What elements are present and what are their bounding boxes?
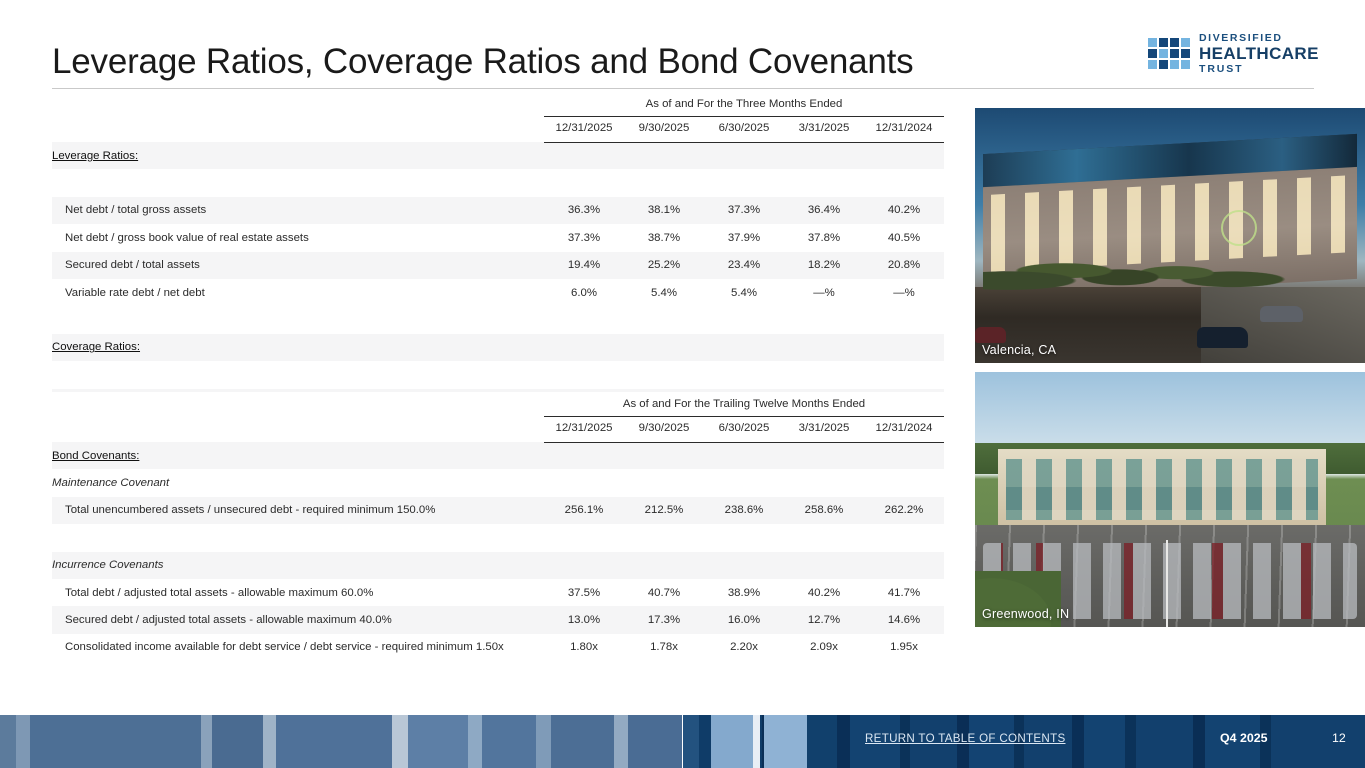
- spacer-cell: [52, 524, 944, 551]
- column-header-spacer: [52, 116, 544, 142]
- group-header-spacer: [52, 92, 544, 116]
- footer-band: [683, 715, 699, 768]
- logo-tile-2: [1170, 38, 1179, 47]
- column-header: 6/30/2025: [704, 416, 784, 442]
- table-cell: 40.5%: [864, 224, 944, 251]
- photo-light-pole: [1166, 540, 1168, 627]
- table-row: Net debt / gross book value of real esta…: [52, 224, 944, 251]
- table-cell: 18.2%: [784, 252, 864, 279]
- footer-band: [201, 715, 212, 768]
- row-label: Total debt / adjusted total assets - all…: [52, 579, 544, 606]
- logo-line-3: TRUST: [1199, 64, 1319, 75]
- table-cell: 38.9%: [704, 579, 784, 606]
- logo-line-1: DIVERSIFIED: [1199, 33, 1319, 44]
- table-column-header-row: 12/31/20259/30/20256/30/20253/31/202512/…: [52, 416, 944, 442]
- table-cell: 36.4%: [784, 197, 864, 224]
- column-header: 12/31/2024: [864, 116, 944, 142]
- table-row: Secured debt / adjusted total assets - a…: [52, 606, 944, 633]
- leverage-coverage-table: As of and For the Three Months Ended 12/…: [52, 92, 944, 443]
- photo-car: [1260, 306, 1303, 323]
- column-header: 12/31/2025: [544, 416, 624, 442]
- bond-covenants-table: As of and For the Trailing Twelve Months…: [52, 392, 944, 661]
- footer-band: [276, 715, 392, 768]
- table-spacer-row: [52, 524, 944, 551]
- table-cell: 16.0%: [704, 606, 784, 633]
- footer-band: [614, 715, 628, 768]
- column-header: 9/30/2025: [624, 116, 704, 142]
- table-cell: 36.3%: [544, 197, 624, 224]
- return-to-toc-link[interactable]: RETURN TO TABLE OF CONTENTS: [865, 732, 1066, 745]
- slide-footer: RETURN TO TABLE OF CONTENTS Q4 2025 12: [0, 715, 1365, 768]
- table-cell: 238.6%: [704, 497, 784, 524]
- logo-line-2: HEALTHCARE: [1199, 45, 1319, 62]
- section-heading: Leverage Ratios:: [52, 142, 944, 169]
- table-cell: 41.7%: [864, 579, 944, 606]
- spacer-cell: [52, 306, 944, 333]
- table-cell: 1.95x: [864, 634, 944, 661]
- footer-band: [1193, 715, 1205, 768]
- row-label: Secured debt / adjusted total assets - a…: [52, 606, 544, 633]
- footer-band: [263, 715, 275, 768]
- title-divider: [52, 88, 1314, 89]
- table-cell: 6.0%: [544, 279, 624, 306]
- column-header: 12/31/2024: [864, 416, 944, 442]
- footer-band: [1072, 715, 1084, 768]
- photo-caption: Valencia, CA: [982, 343, 1056, 357]
- row-label: Net debt / total gross assets: [52, 197, 544, 224]
- footer-quarter-label: Q4 2025: [1220, 731, 1268, 745]
- table-cell: 38.7%: [624, 224, 704, 251]
- table-row: Total unencumbered assets / unsecured de…: [52, 497, 944, 524]
- footer-band-mullion: [753, 715, 759, 768]
- logo-tile-0: [1148, 38, 1157, 47]
- photo-trees: [983, 241, 1295, 307]
- table-row: Variable rate debt / net debt6.0%5.4%5.4…: [52, 279, 944, 306]
- row-label: Consolidated income available for debt s…: [52, 634, 544, 661]
- logo-tile-9: [1159, 60, 1168, 69]
- table-cell: 40.2%: [784, 579, 864, 606]
- footer-band: [1125, 715, 1136, 768]
- table-row: Secured debt / total assets19.4%25.2%23.…: [52, 252, 944, 279]
- footer-band: [16, 715, 30, 768]
- photo-caption: Greenwood, IN: [982, 607, 1069, 621]
- spacer-cell: [52, 361, 944, 388]
- table-cell: 258.6%: [784, 497, 864, 524]
- logo-tile-11: [1181, 60, 1190, 69]
- table-cell: 12.7%: [784, 606, 864, 633]
- table-cell: 2.09x: [784, 634, 864, 661]
- table-one-body: As of and For the Three Months Ended 12/…: [52, 92, 944, 443]
- section-heading: Bond Covenants:: [52, 442, 944, 469]
- footer-band: [212, 715, 264, 768]
- table-cell: 5.4%: [704, 279, 784, 306]
- table-section-row: Maintenance Covenant: [52, 469, 944, 496]
- table-cell: 37.3%: [704, 197, 784, 224]
- column-header-spacer: [52, 416, 544, 442]
- footer-band: [837, 715, 851, 768]
- table-row: Consolidated income available for debt s…: [52, 634, 944, 661]
- table-cell: 37.8%: [784, 224, 864, 251]
- table-cell: 14.6%: [864, 606, 944, 633]
- footer-band: [468, 715, 482, 768]
- table-cell: 37.9%: [704, 224, 784, 251]
- sub-heading: Maintenance Covenant: [52, 469, 944, 496]
- table-cell: 37.3%: [544, 224, 624, 251]
- table-cell: 17.3%: [624, 606, 704, 633]
- table-cell: 40.7%: [624, 579, 704, 606]
- photo-car: [1197, 327, 1248, 347]
- footer-band: [392, 715, 408, 768]
- table-cell: 37.5%: [544, 579, 624, 606]
- table-column-header-row: 12/31/20259/30/20256/30/20253/31/202512/…: [52, 116, 944, 142]
- column-header: 6/30/2025: [704, 116, 784, 142]
- footer-band-light: [711, 715, 757, 768]
- footer-band: [1136, 715, 1193, 768]
- row-label: Secured debt / total assets: [52, 252, 544, 279]
- photo-car: [975, 327, 1006, 342]
- table-row: Total debt / adjusted total assets - all…: [52, 579, 944, 606]
- table-group-header-row: As of and For the Three Months Ended: [52, 92, 944, 116]
- spacer-cell: [52, 169, 944, 196]
- column-header: 12/31/2025: [544, 116, 624, 142]
- table-section-row: Bond Covenants:: [52, 442, 944, 469]
- logo-tile-10: [1170, 60, 1179, 69]
- footer-band: [628, 715, 683, 768]
- table-cell: 5.4%: [624, 279, 704, 306]
- footer-band: [1271, 715, 1365, 768]
- column-header: 9/30/2025: [624, 416, 704, 442]
- column-header: 3/31/2025: [784, 116, 864, 142]
- section-heading: Coverage Ratios:: [52, 334, 944, 361]
- footer-background: [0, 715, 1365, 768]
- row-label: Total unencumbered assets / unsecured de…: [52, 497, 544, 524]
- company-logo: DIVERSIFIED HEALTHCARE TRUST: [1148, 33, 1319, 74]
- group-header-label: As of and For the Three Months Ended: [544, 92, 944, 116]
- photo-greenwood: Greenwood, IN: [975, 372, 1365, 627]
- footer-band: [551, 715, 614, 768]
- table-section-row: Coverage Ratios:: [52, 334, 944, 361]
- logo-tile-1: [1159, 38, 1168, 47]
- table-cell: 262.2%: [864, 497, 944, 524]
- table-group-header-row: As of and For the Trailing Twelve Months…: [52, 392, 944, 416]
- table-cell: 19.4%: [544, 252, 624, 279]
- table-cell: 256.1%: [544, 497, 624, 524]
- page-title: Leverage Ratios, Coverage Ratios and Bon…: [52, 42, 913, 82]
- footer-band: [408, 715, 468, 768]
- table-cell: 23.4%: [704, 252, 784, 279]
- logo-tile-6: [1170, 49, 1179, 58]
- table-cell: 38.1%: [624, 197, 704, 224]
- table-section-row: Incurrence Covenants: [52, 552, 944, 579]
- row-label: Net debt / gross book value of real esta…: [52, 224, 544, 251]
- table-cell: 1.80x: [544, 634, 624, 661]
- table-cell: —%: [784, 279, 864, 306]
- table-section-row: Leverage Ratios:: [52, 142, 944, 169]
- table-cell: 13.0%: [544, 606, 624, 633]
- table-cell: 2.20x: [704, 634, 784, 661]
- table-cell: 1.78x: [624, 634, 704, 661]
- logo-tile-7: [1181, 49, 1190, 58]
- table-cell: 212.5%: [624, 497, 704, 524]
- photo-windows: [1006, 487, 1318, 510]
- logo-grid-icon: [1148, 38, 1190, 69]
- footer-band: [482, 715, 537, 768]
- footer-band: [536, 715, 551, 768]
- footer-band: [1084, 715, 1125, 768]
- table-cell: 40.2%: [864, 197, 944, 224]
- group-header-label: As of and For the Trailing Twelve Months…: [544, 392, 944, 416]
- logo-tile-8: [1148, 60, 1157, 69]
- logo-tile-5: [1159, 49, 1168, 58]
- group-header-spacer: [52, 392, 544, 416]
- table-spacer-row: [52, 169, 944, 196]
- sub-heading: Incurrence Covenants: [52, 552, 944, 579]
- logo-tile-3: [1181, 38, 1190, 47]
- table-cell: —%: [864, 279, 944, 306]
- column-header: 3/31/2025: [784, 416, 864, 442]
- photo-valencia: Valencia, CA: [975, 108, 1365, 363]
- logo-wordmark: DIVERSIFIED HEALTHCARE TRUST: [1199, 33, 1319, 74]
- row-label: Variable rate debt / net debt: [52, 279, 544, 306]
- footer-page-number: 12: [1332, 731, 1346, 745]
- table-cell: 25.2%: [624, 252, 704, 279]
- slide: Leverage Ratios, Coverage Ratios and Bon…: [0, 0, 1365, 768]
- footer-band-light: [764, 715, 806, 768]
- footer-band: [0, 715, 16, 768]
- table-spacer-row: [52, 361, 944, 388]
- table-two-body: As of and For the Trailing Twelve Months…: [52, 392, 944, 661]
- table-spacer-row: [52, 306, 944, 333]
- table-cell: 20.8%: [864, 252, 944, 279]
- footer-band: [30, 715, 201, 768]
- logo-tile-4: [1148, 49, 1157, 58]
- table-row: Net debt / total gross assets36.3%38.1%3…: [52, 197, 944, 224]
